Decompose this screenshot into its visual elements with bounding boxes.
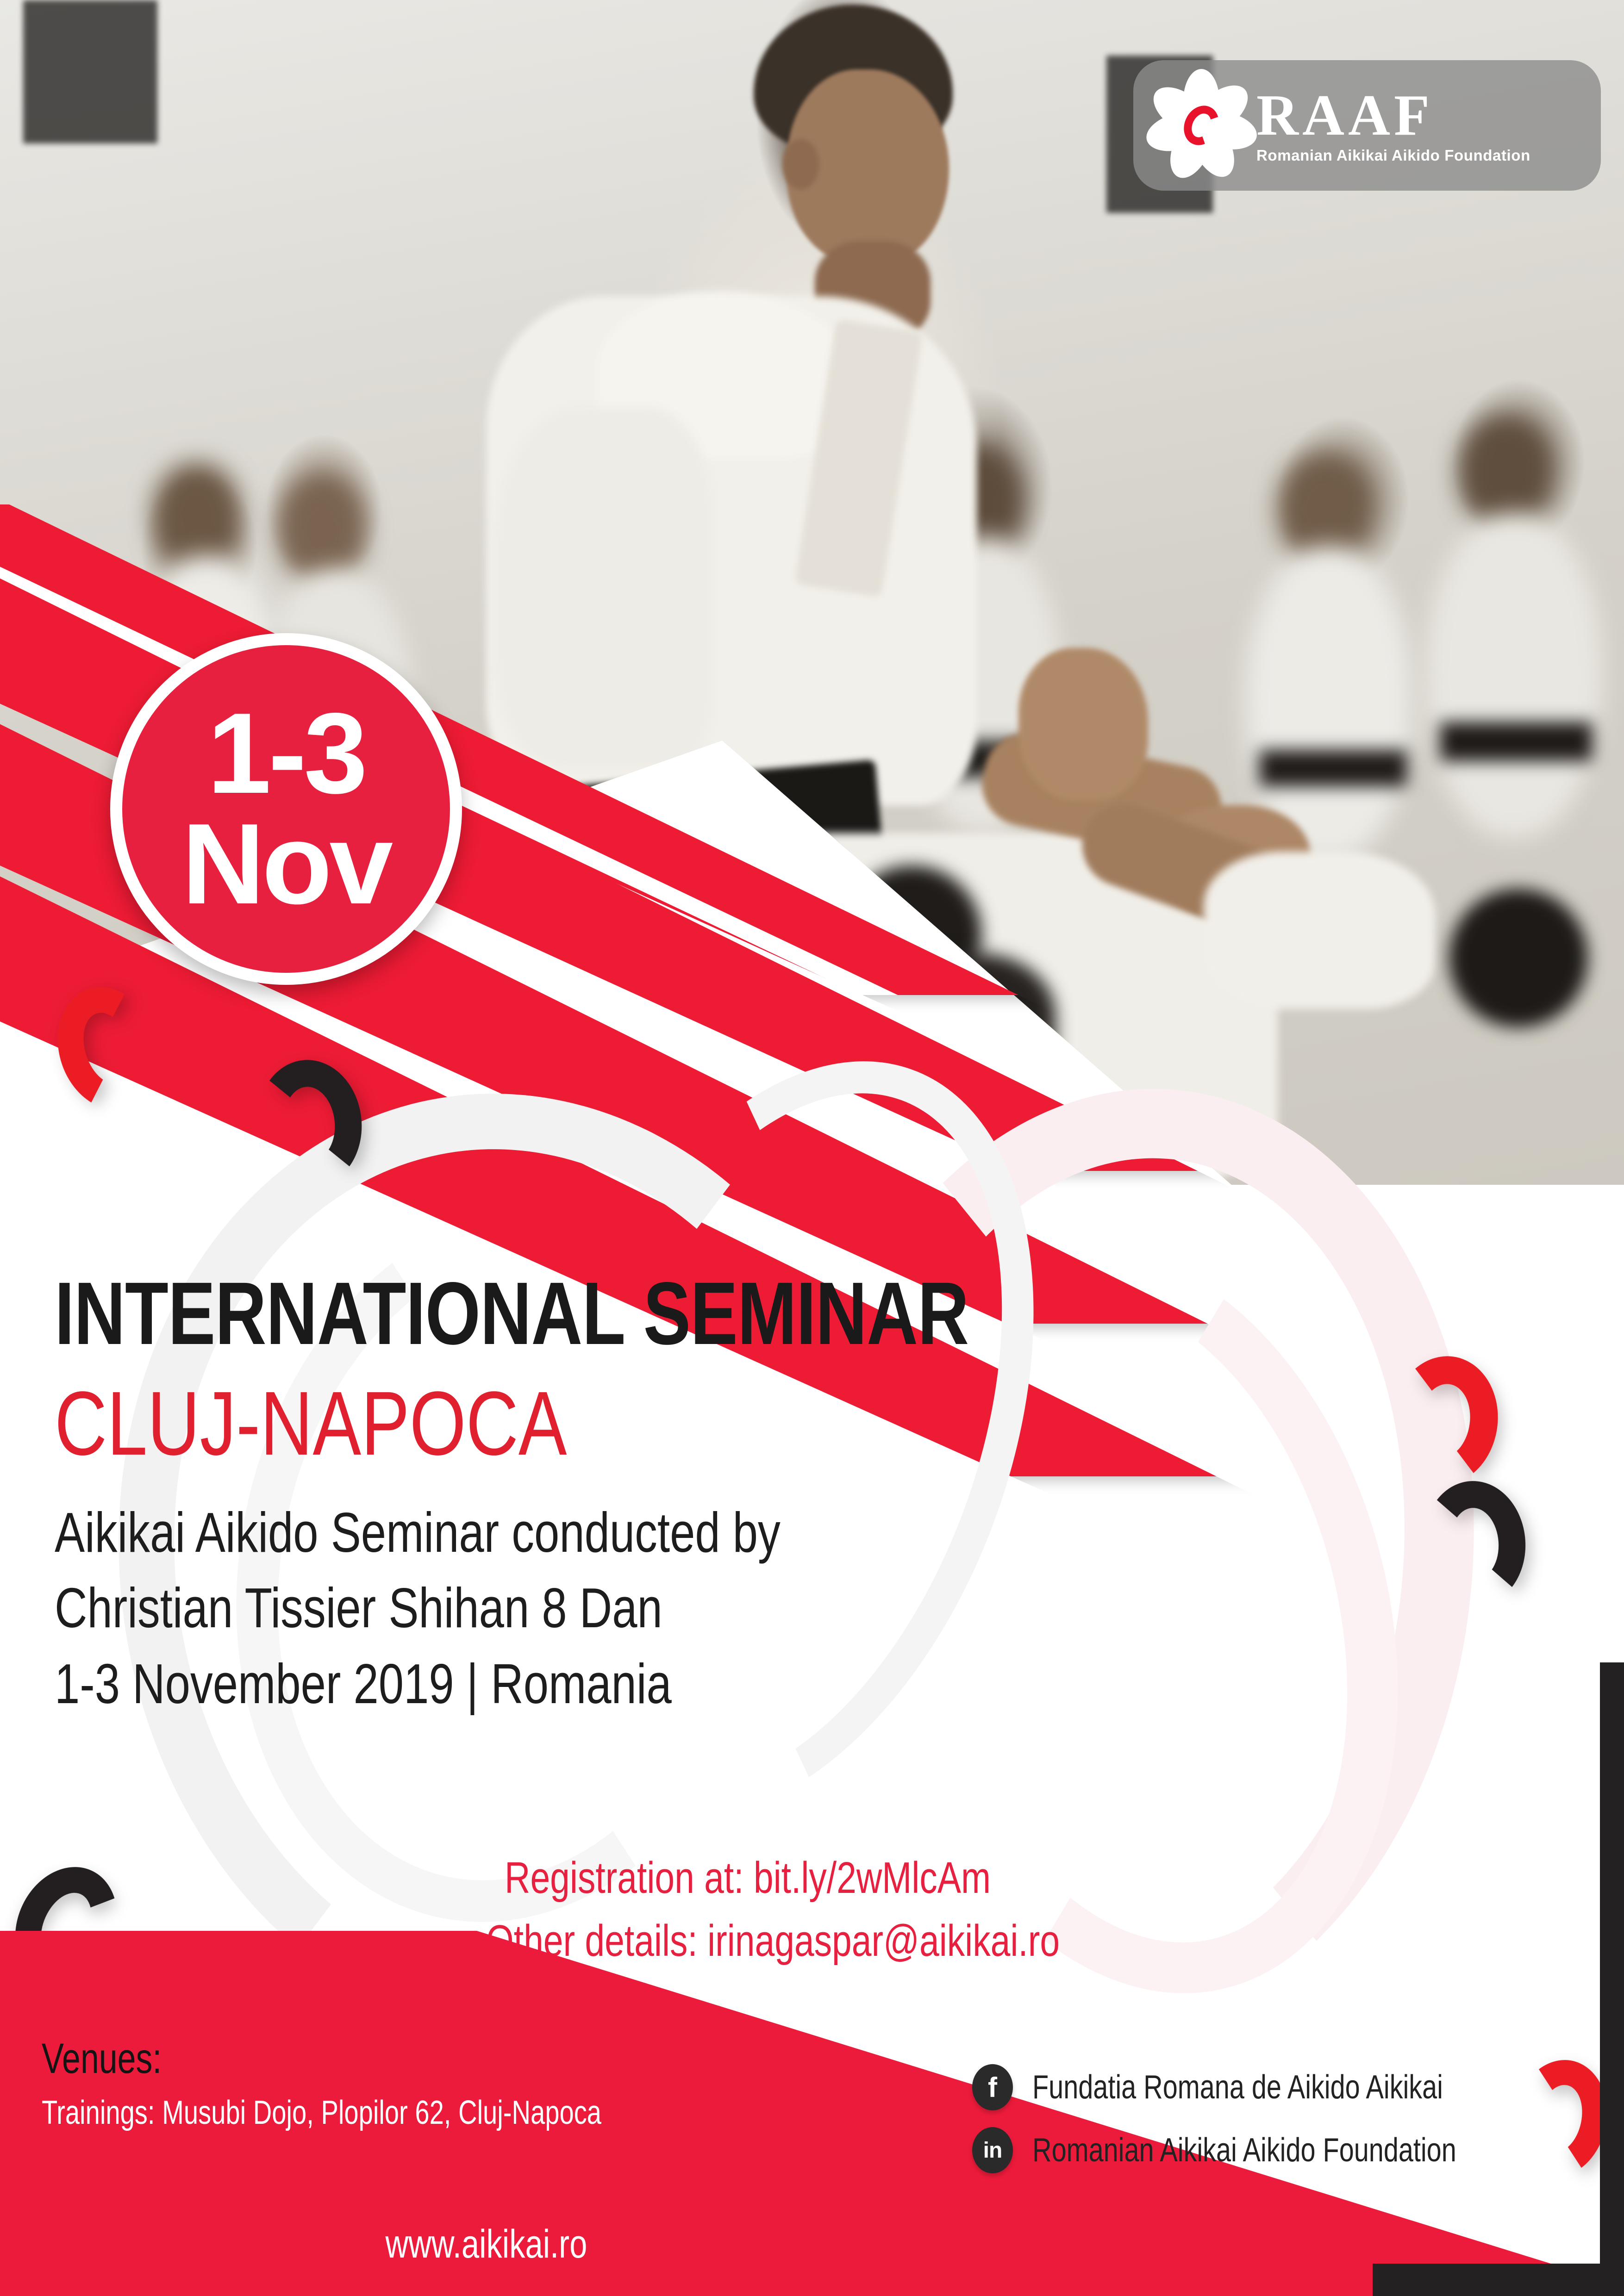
student-bg-2 xyxy=(278,477,366,583)
date-range: 1-3 xyxy=(207,700,365,807)
linkedin-label: Romanian Aikikai Aikido Foundation xyxy=(1032,2131,1456,2169)
footer-website-text: www.aikikai.ro xyxy=(385,2221,587,2267)
social-row-facebook[interactable]: f Fundatia Romana de Aikido Aikikai xyxy=(972,2064,1551,2110)
subtitle-line-3: 1-3 November 2019 | Romania xyxy=(55,1646,943,1722)
raaf-tagline: Romanian Aikikai Aikido Foundation xyxy=(1256,147,1530,164)
uke-gi-sleeve xyxy=(1204,852,1435,1009)
raaf-logo-plate[interactable]: RAAF Romanian Aikikai Aikido Foundation xyxy=(1133,60,1601,191)
page-title: INTERNATIONAL SEMINAR xyxy=(55,1269,943,1358)
title-block: INTERNATIONAL SEMINAR CLUJ-NAPOCA Aikika… xyxy=(55,1269,1166,1722)
belt-bg-3 xyxy=(1440,722,1593,761)
student-bg-6 xyxy=(1458,417,1551,528)
raaf-wordmark: RAAF xyxy=(1256,87,1530,145)
wall-frame-left xyxy=(23,0,157,143)
instructor-gi-sleeve-left xyxy=(495,407,713,768)
social-row-linkedin[interactable]: in Romanian Aikikai Aikido Foundation xyxy=(972,2127,1551,2173)
venues-block: Venues: Trainings: Musubi Dojo, Plopilor… xyxy=(42,2036,736,2134)
foreground-head-2 xyxy=(1449,889,1588,1027)
date-month: Nov xyxy=(182,809,391,919)
instructor-ear xyxy=(782,139,819,190)
date-badge: 1-3 Nov xyxy=(110,633,462,985)
footer-website[interactable]: www.aikikai.ro xyxy=(0,2221,972,2267)
subtitle-line-1: Aikikai Aikido Seminar conducted by xyxy=(55,1495,943,1570)
raaf-flower-icon xyxy=(1162,86,1241,165)
student-bg-8 xyxy=(1426,514,1602,838)
linkedin-icon[interactable]: in xyxy=(972,2127,1013,2173)
aikido-seminar-poster: 1-3 Nov RAAF Romanian Aikikai Aikido Fou… xyxy=(0,0,1624,2296)
bottom-dark-bar xyxy=(1373,2264,1624,2296)
subtitle-block: Aikikai Aikido Seminar conducted by Chri… xyxy=(55,1495,1166,1722)
page-subtitle-city: CLUJ-NAPOCA xyxy=(55,1378,943,1469)
belt-bg-2 xyxy=(1259,750,1407,787)
student-bg-1 xyxy=(153,463,241,569)
social-links: f Fundatia Romana de Aikido Aikikai in R… xyxy=(972,2064,1551,2190)
instructor-hand-right xyxy=(1018,648,1148,801)
registration-block: Registration at: bit.ly/2wMlcAm Other de… xyxy=(505,1847,1199,1973)
raaf-core xyxy=(1197,119,1206,132)
facebook-label: Fundatia Romana de Aikido Aikikai xyxy=(1032,2068,1443,2106)
registration-link[interactable]: Registration at: bit.ly/2wMlcAm xyxy=(505,1847,1060,1910)
facebook-icon[interactable]: f xyxy=(972,2064,1013,2110)
venues-training-line: Trainings: Musubi Dojo, Plopilor 62, Clu… xyxy=(42,2091,583,2135)
venues-heading: Venues: xyxy=(42,2036,583,2081)
subtitle-line-2: Christian Tissier Shihan 8 Dan xyxy=(55,1570,943,1646)
right-dark-bar xyxy=(1600,1662,1624,2296)
